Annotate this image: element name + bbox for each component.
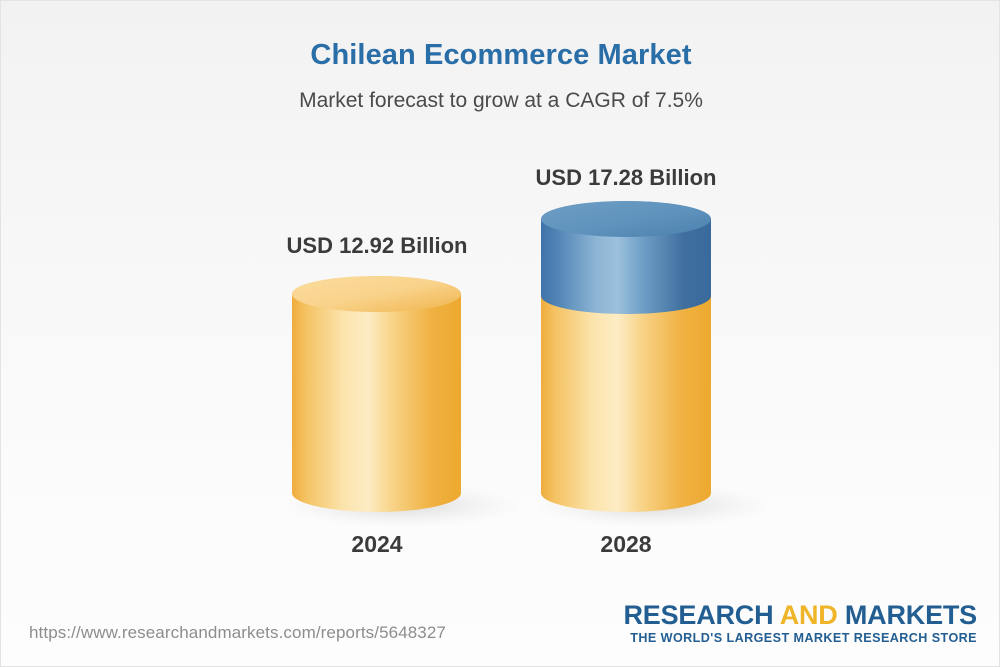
report-url[interactable]: https://www.researchandmarkets.com/repor… [29, 623, 446, 643]
value-label-2028: USD 17.28 Billion [446, 165, 806, 191]
logo-word-and: AND [780, 600, 845, 630]
bar-2028-top-cap [541, 201, 711, 237]
bar-2024[interactable] [292, 276, 461, 512]
logo-word-markets: MARKETS [845, 600, 977, 630]
logo-tagline: THE WORLD'S LARGEST MARKET RESEARCH STOR… [623, 631, 977, 646]
value-label-2024: USD 12.92 Billion [197, 233, 557, 259]
category-label-2028: 2028 [446, 531, 806, 558]
bar-2024-top-cap [292, 276, 461, 312]
research-and-markets-logo[interactable]: RESEARCH AND MARKETS THE WORLD'S LARGEST… [623, 601, 977, 646]
bar-2028[interactable] [541, 201, 711, 512]
chart-card: Chilean Ecommerce Market Market forecast… [0, 0, 1000, 667]
logo-wordmark: RESEARCH AND MARKETS [623, 601, 977, 629]
cylinder-bars-svg [1, 1, 1000, 667]
logo-word-research: RESEARCH [623, 600, 779, 630]
chart-plot-area: USD 12.92 Billion USD 17.28 Billion 2024… [1, 1, 1000, 667]
